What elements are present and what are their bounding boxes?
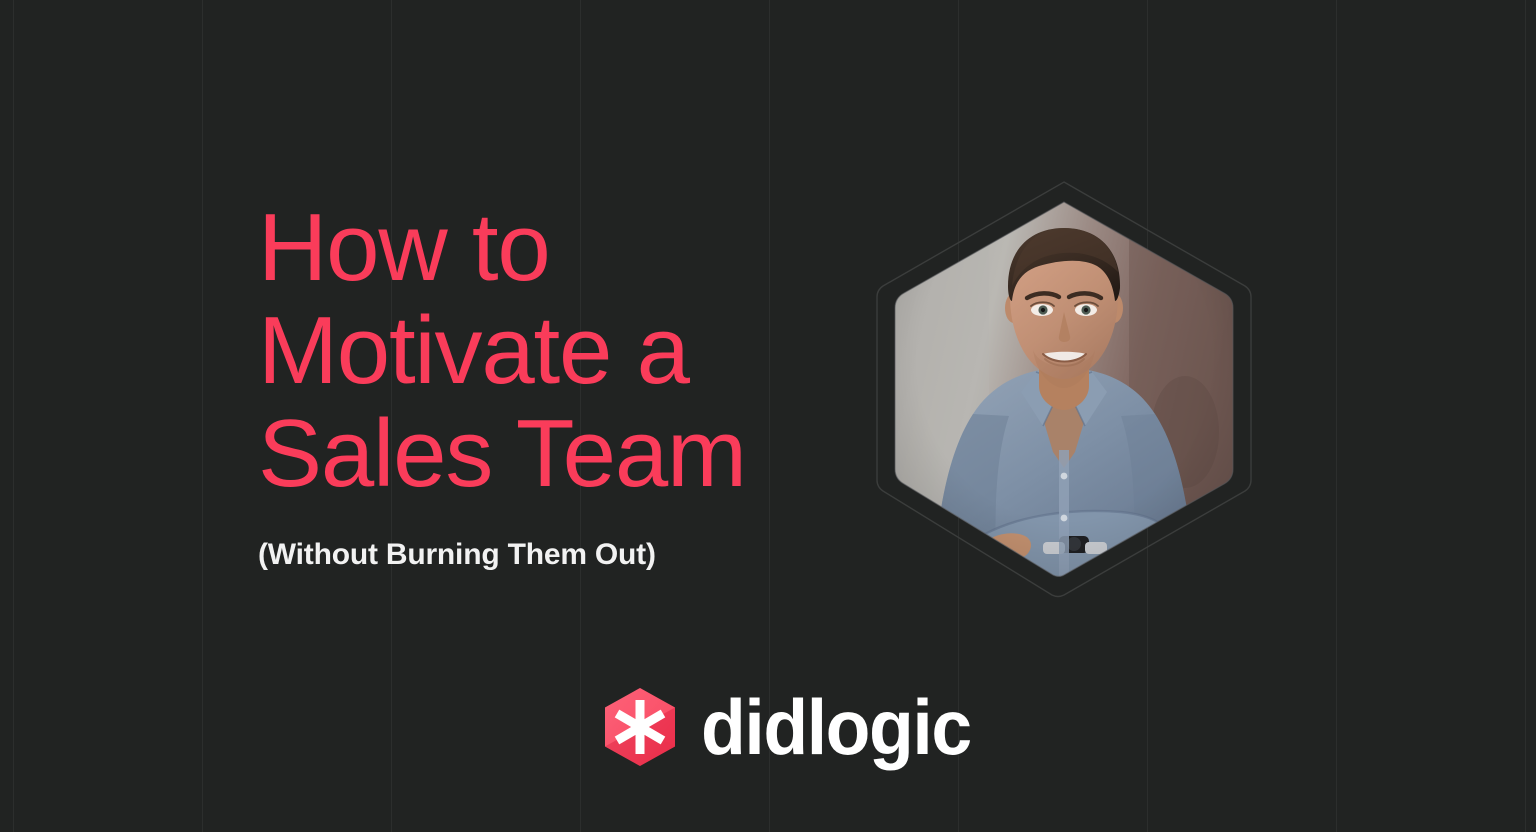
page-title: How to Motivate a Sales Team	[258, 196, 858, 505]
grid-line	[13, 0, 14, 832]
grid-line	[1525, 0, 1526, 832]
portrait-photo	[893, 200, 1235, 577]
portrait	[893, 200, 1235, 577]
brand-wordmark: didlogic	[701, 688, 971, 766]
page-subtitle: (Without Burning Them Out)	[258, 537, 858, 573]
hero-copy: How to Motivate a Sales Team (Without Bu…	[258, 196, 858, 573]
brand-logo[interactable]: didlogic	[601, 686, 988, 768]
grid-line	[1336, 0, 1337, 832]
hexagon-asterisk-icon	[601, 686, 679, 768]
cover-canvas: How to Motivate a Sales Team (Without Bu…	[0, 0, 1536, 832]
grid-line	[202, 0, 203, 832]
